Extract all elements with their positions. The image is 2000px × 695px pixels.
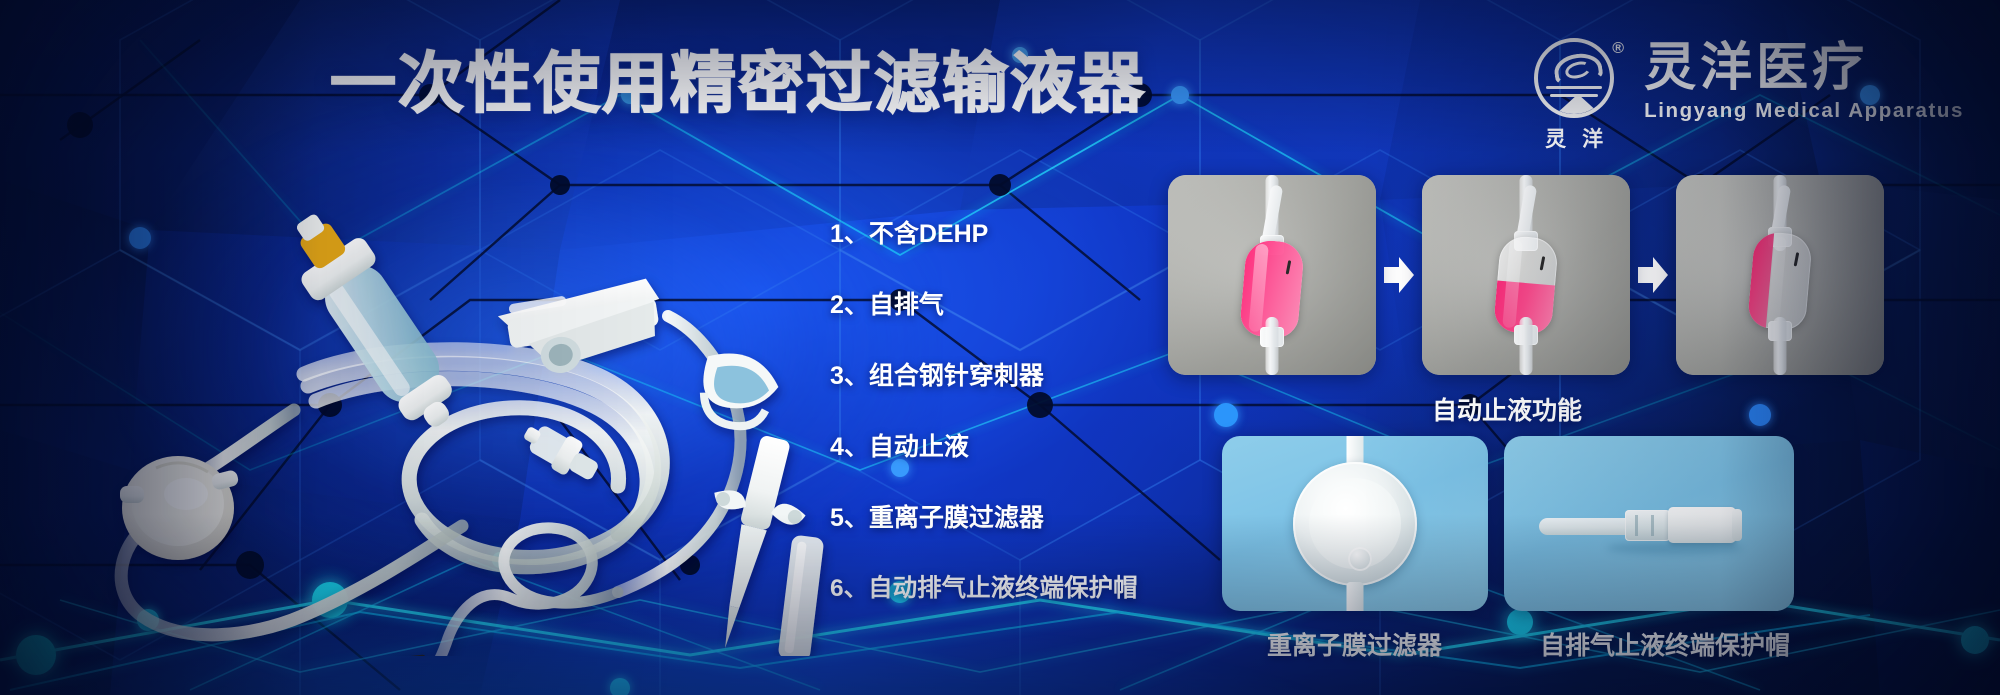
photo-auto-stop-step-2 [1422,175,1630,375]
photo-auto-stop-step-3 [1676,175,1884,375]
auto-stop-photo-row [1168,175,1884,375]
caption-terminal-cap: 自排气止液终端保护帽 [1540,626,1790,662]
logo-mark: ® 灵洋 [1526,38,1622,153]
connector-cap-graphic [1539,496,1765,552]
arrow-right-icon [1382,255,1416,295]
component-photo-row [1222,436,1794,611]
photo-auto-stop-step-1 [1168,175,1376,375]
arrow-separator-1 [1376,255,1422,295]
logo-circle-icon [1534,38,1614,118]
registered-trademark-icon: ® [1612,40,1624,58]
feature-item-5: 5、重离子膜过滤器 [830,506,1190,531]
photo-heavy-ion-filter [1222,436,1488,611]
photo-terminal-protective-cap [1504,436,1794,611]
round-filter-graphic [1293,462,1417,586]
brand-name-cn: 灵洋医疗 [1644,42,1964,95]
page-title: 一次性使用精密过滤输液器 [330,50,1146,116]
feature-item-2: 2、自排气 [830,293,1190,318]
arrow-separator-2 [1630,255,1676,295]
logo-mark-label: 灵洋 [1526,123,1622,153]
hero-product-infusion-set [58,186,848,656]
feature-item-4: 4、自动止液 [830,435,1190,460]
brand-text-block: 灵洋医疗 Lingyang Medical Apparatus [1644,38,1964,123]
feature-item-6: 6、自动排气止液终端保护帽 [830,577,1190,602]
product-banner: 一次性使用精密过滤输液器 ® 灵洋 灵洋医疗 Lingyang Medical … [0,0,2000,695]
arrow-right-icon [1636,255,1670,295]
caption-heavy-ion-filter: 重离子膜过滤器 [1267,626,1442,662]
feature-item-1: 1、不含DEHP [830,222,1190,247]
feature-item-3: 3、组合钢针穿刺器 [830,364,1190,389]
feature-list: 1、不含DEHP 2、自排气 3、组合钢针穿刺器 4、自动止液 5、重离子膜过滤… [830,222,1190,602]
brand-name-en: Lingyang Medical Apparatus [1644,99,1964,123]
brand-logo: ® 灵洋 灵洋医疗 Lingyang Medical Apparatus [1526,38,1964,153]
caption-auto-stop: 自动止液功能 [1432,391,1582,427]
